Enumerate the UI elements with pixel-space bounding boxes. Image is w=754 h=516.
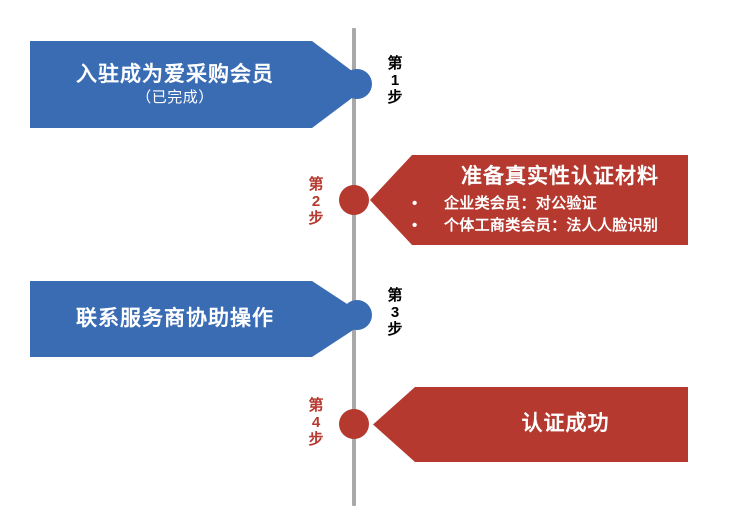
step-1-subtitle: （已完成） xyxy=(34,88,316,108)
step-4-caption-line-3: 步 xyxy=(302,432,330,449)
step-1-banner[interactable]: 入驻成为爱采购会员 （已完成） xyxy=(30,41,370,128)
step-4-caption: 第 4 步 xyxy=(302,398,330,448)
step-2-caption: 第 2 步 xyxy=(302,177,330,227)
bullet-icon: • xyxy=(412,215,418,236)
step-2-caption-line-2: 2 xyxy=(302,194,330,211)
step-4-milestone-dot[interactable] xyxy=(339,409,369,439)
step-4-banner-content: 认证成功 xyxy=(373,411,688,437)
step-1-caption: 第 1 步 xyxy=(381,56,409,106)
step-1-caption-line-3: 步 xyxy=(381,90,409,107)
step-2-banner[interactable]: 准备真实性认证材料 • 企业类会员：对公验证 • 个体工商类会员：法人人脸识别 xyxy=(370,155,688,245)
step-2-bullet-item: • 企业类会员：对公验证 xyxy=(406,193,688,214)
step-4-title: 认证成功 xyxy=(443,411,688,437)
step-2-bullet-list: • 企业类会员：对公验证 • 个体工商类会员：法人人脸识别 xyxy=(406,193,688,236)
step-2-title: 准备真实性认证材料 xyxy=(406,164,688,190)
step-2-bullet-text: 企业类会员：对公验证 xyxy=(444,195,597,212)
step-3-caption: 第 3 步 xyxy=(381,288,409,338)
step-3-banner[interactable]: 联系服务商协助操作 xyxy=(30,281,370,357)
step-2-caption-line-1: 第 xyxy=(302,177,330,194)
step-1-banner-content: 入驻成为爱采购会员 （已完成） xyxy=(30,62,316,108)
step-2-bullet-item: • 个体工商类会员：法人人脸识别 xyxy=(406,215,688,236)
step-4-caption-line-1: 第 xyxy=(302,398,330,415)
step-1-caption-line-1: 第 xyxy=(381,56,409,73)
step-1-caption-line-2: 1 xyxy=(381,73,409,90)
process-timeline-diagram: 入驻成为爱采购会员 （已完成） 第 1 步 第 2 步 准备真实性认证材料 • … xyxy=(0,0,754,516)
step-2-milestone-dot[interactable] xyxy=(339,185,369,215)
step-3-caption-line-2: 3 xyxy=(381,305,409,322)
bullet-icon: • xyxy=(412,193,418,214)
step-1-milestone-dot[interactable] xyxy=(342,69,372,99)
step-1-title: 入驻成为爱采购会员 xyxy=(34,62,316,88)
step-2-banner-content: 准备真实性认证材料 • 企业类会员：对公验证 • 个体工商类会员：法人人脸识别 xyxy=(370,164,688,236)
step-2-bullet-text: 个体工商类会员：法人人脸识别 xyxy=(444,217,658,234)
step-3-banner-content: 联系服务商协助操作 xyxy=(30,306,316,332)
step-4-caption-line-2: 4 xyxy=(302,415,330,432)
step-2-caption-line-3: 步 xyxy=(302,211,330,228)
step-3-title: 联系服务商协助操作 xyxy=(34,306,316,332)
step-3-milestone-dot[interactable] xyxy=(342,300,372,330)
step-3-caption-line-1: 第 xyxy=(381,288,409,305)
step-3-caption-line-3: 步 xyxy=(381,322,409,339)
step-4-banner[interactable]: 认证成功 xyxy=(373,387,688,462)
